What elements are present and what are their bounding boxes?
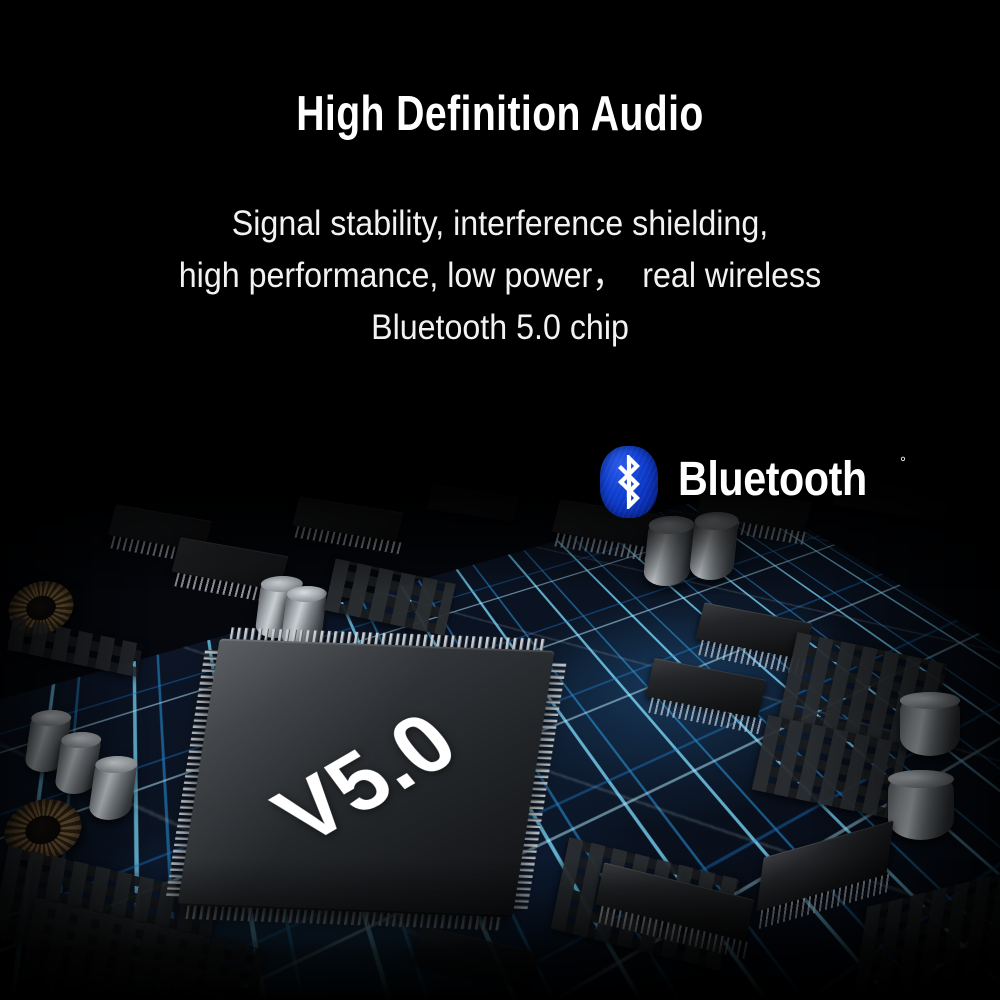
- subcopy-block: Signal stability, interference shielding…: [0, 198, 1000, 354]
- bluetooth-wordmark: Bluetooth: [678, 456, 867, 504]
- trademark-symbol: °: [900, 455, 906, 470]
- subcopy-line-2: high performance, low power， real wirele…: [40, 250, 960, 302]
- electrolytic-capacitor: [888, 770, 954, 840]
- circuit-board-image: V5.0: [0, 470, 1000, 1000]
- main-bluetooth-chip: V5.0: [178, 639, 555, 918]
- bluetooth-rune-icon: [612, 455, 646, 509]
- product-banner: High Definition Audio Signal stability, …: [0, 0, 1000, 1000]
- subcopy-line-1: Signal stability, interference shielding…: [40, 198, 960, 250]
- page-title: High Definition Audio: [100, 90, 900, 139]
- electrolytic-capacitor: [642, 516, 695, 586]
- electrolytic-capacitor: [688, 512, 739, 580]
- bluetooth-logo: Bluetooth: [600, 444, 897, 520]
- electrolytic-capacitor: [900, 692, 960, 756]
- subcopy-line-3: Bluetooth 5.0 chip: [40, 302, 960, 354]
- bluetooth-badge: [600, 446, 658, 518]
